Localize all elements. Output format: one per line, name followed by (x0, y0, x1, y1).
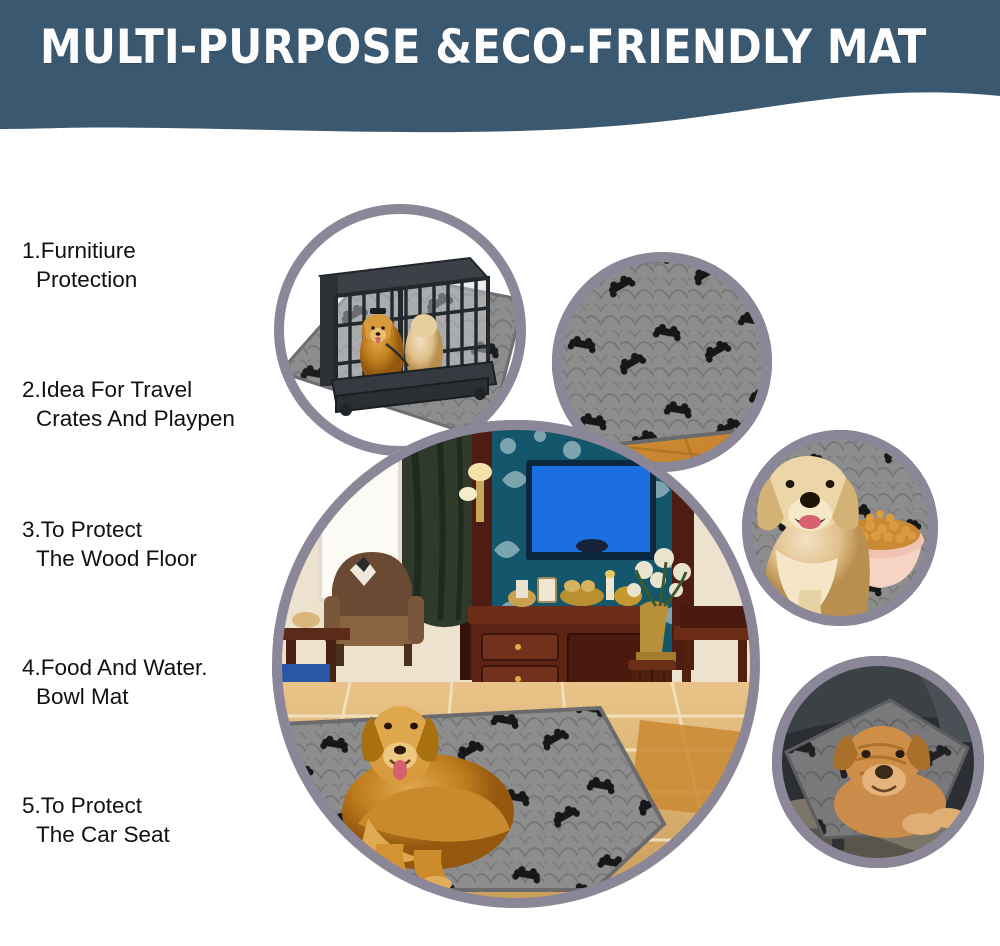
bubble-living-room (272, 420, 760, 908)
bubble-car-seat (772, 656, 984, 868)
page-title: MULTI-PURPOSE &ECO-FRIENDLY MAT (40, 20, 961, 76)
bubble-dog-in-crate (274, 204, 526, 456)
product-infographic: MULTI-PURPOSE &ECO-FRIENDLY MAT 1.Furnit… (0, 0, 1000, 946)
bubble-food-bowl (742, 430, 938, 626)
photo-collage (0, 120, 1000, 946)
header-banner: MULTI-PURPOSE &ECO-FRIENDLY MAT (0, 0, 1000, 140)
food-bowl-illustration (742, 430, 938, 626)
car-seat-illustration (772, 656, 984, 868)
living-room-illustration (272, 420, 760, 908)
dog-in-crate-illustration (274, 204, 526, 456)
